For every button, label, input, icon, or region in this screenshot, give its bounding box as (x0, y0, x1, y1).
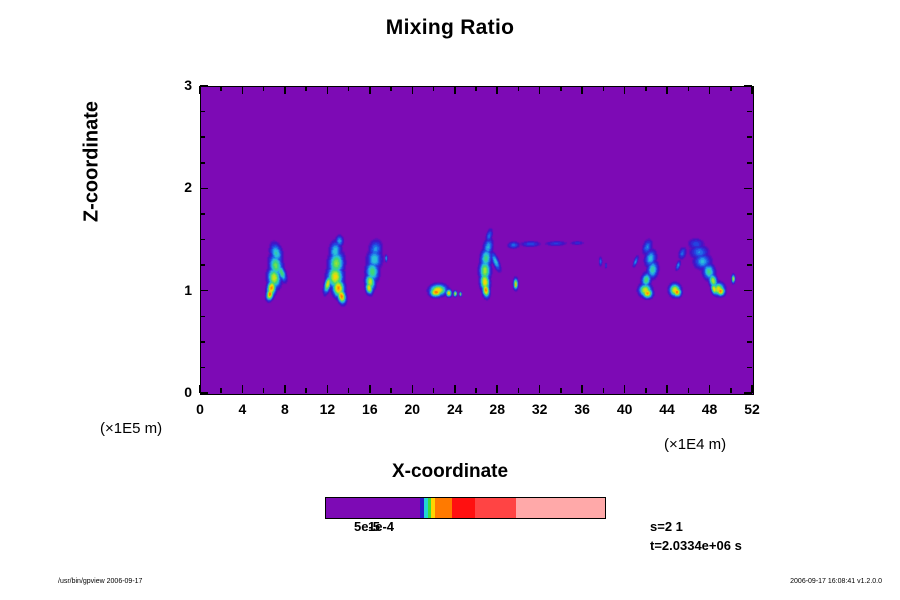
x-tick-top (539, 86, 541, 94)
x-tick (709, 385, 711, 393)
y-tick (200, 290, 208, 292)
x-tick-label: 36 (562, 401, 602, 417)
annotation-sigma: s=2 1 (650, 519, 683, 534)
y-tick (200, 264, 205, 266)
x-tick (539, 385, 541, 393)
colorbar-segment (475, 498, 516, 518)
contour-field (201, 87, 753, 394)
x-tick (263, 388, 265, 393)
x-tick-top (603, 86, 605, 91)
x-tick-label: 44 (647, 401, 687, 417)
x-tick (433, 388, 435, 393)
y-tick-label: 0 (164, 384, 192, 400)
x-tick (560, 388, 562, 393)
colorbar-segment (516, 498, 605, 518)
x-tick-top (369, 86, 371, 94)
x-tick-top (242, 86, 244, 94)
x-tick-top (199, 86, 201, 94)
x-tick-label: 48 (690, 401, 730, 417)
x-tick-top (666, 86, 668, 94)
x-axis-title: X-coordinate (0, 461, 900, 483)
x-tick-label: 12 (307, 401, 347, 417)
x-tick-top (518, 86, 520, 91)
x-tick-label: 52 (732, 401, 772, 417)
x-tick-label: 32 (520, 401, 560, 417)
y-tick-right (744, 290, 752, 292)
colorbar-segment (326, 498, 420, 518)
x-tick-top (496, 86, 498, 94)
x-tick-label: 8 (265, 401, 305, 417)
y-tick (200, 136, 205, 138)
y-tick (200, 392, 208, 394)
x-tick-top (327, 86, 329, 94)
y-tick (200, 367, 205, 369)
x-tick (645, 388, 647, 393)
y-tick-right (744, 188, 752, 190)
x-tick (242, 385, 244, 393)
x-tick (305, 388, 307, 393)
y-tick (200, 188, 208, 190)
x-tick-top (305, 86, 307, 91)
x-tick (496, 385, 498, 393)
x-tick (730, 388, 732, 393)
colorbar-label-1: 1e-4 (361, 519, 401, 534)
x-tick-label: 20 (392, 401, 432, 417)
page-title: Mixing Ratio (0, 16, 900, 40)
y-tick-right (747, 264, 752, 266)
y-tick-right (747, 367, 752, 369)
plot-area (200, 86, 754, 395)
colorbar-segment (452, 498, 475, 518)
x-tick-top (560, 86, 562, 91)
y-tick (200, 111, 205, 113)
x-tick-top (709, 86, 711, 94)
y-tick (200, 213, 205, 215)
x-tick-top (751, 86, 753, 94)
x-tick-top (730, 86, 732, 91)
x-tick (348, 388, 350, 393)
y-tick-right (747, 213, 752, 215)
y-tick (200, 239, 205, 241)
y-tick (200, 316, 205, 318)
y-tick-label: 3 (164, 77, 192, 93)
x-tick-label: 28 (477, 401, 517, 417)
annotation-time: t=2.0334e+06 s (650, 538, 742, 553)
x-tick-top (284, 86, 286, 94)
y-tick (200, 162, 205, 164)
footer-command: /usr/bin/gpview 2006-09-17 (58, 578, 142, 585)
x-tick-label: 40 (605, 401, 645, 417)
x-tick (518, 388, 520, 393)
colorbar: 5e-5 1e-4 (325, 497, 606, 519)
y-tick-right (744, 85, 752, 87)
x-tick (369, 385, 371, 393)
x-tick (688, 388, 690, 393)
y-tick-right (744, 392, 752, 394)
x-axis-unit: (×1E4 m) (664, 436, 726, 453)
y-tick-right (747, 162, 752, 164)
footer-timestamp: 2006-09-17 16:08:41 v1.2.0.0 (790, 578, 882, 585)
x-tick-top (581, 86, 583, 94)
y-tick (200, 341, 205, 343)
x-tick-top (454, 86, 456, 94)
x-tick-top (412, 86, 414, 94)
x-tick-label: 16 (350, 401, 390, 417)
x-tick (390, 388, 392, 393)
x-tick-top (433, 86, 435, 91)
x-tick (284, 385, 286, 393)
y-tick-right (747, 136, 752, 138)
y-tick-label: 1 (164, 282, 192, 298)
x-tick-top (220, 86, 222, 91)
colorbar-segment (435, 498, 452, 518)
y-tick-right (747, 316, 752, 318)
y-tick-right (747, 111, 752, 113)
x-tick-top (475, 86, 477, 91)
x-tick (412, 385, 414, 393)
x-tick (666, 385, 668, 393)
y-tick-right (747, 239, 752, 241)
x-tick (220, 388, 222, 393)
x-tick-top (624, 86, 626, 94)
x-tick-top (645, 86, 647, 91)
x-tick-label: 4 (222, 401, 262, 417)
x-tick-top (390, 86, 392, 91)
x-tick-top (348, 86, 350, 91)
x-tick (327, 385, 329, 393)
x-tick-label: 0 (180, 401, 220, 417)
y-tick-right (747, 341, 752, 343)
y-tick (200, 85, 208, 87)
y-tick-label: 2 (164, 179, 192, 195)
x-tick (624, 385, 626, 393)
x-tick-top (263, 86, 265, 91)
x-tick-top (688, 86, 690, 91)
x-tick-label: 24 (435, 401, 475, 417)
x-tick (475, 388, 477, 393)
x-tick (581, 385, 583, 393)
y-axis-title: Z-coordinate (81, 52, 104, 272)
colorbar-gradient (325, 497, 606, 519)
x-tick (603, 388, 605, 393)
x-tick (454, 385, 456, 393)
y-axis-unit: (×1E5 m) (100, 420, 162, 437)
